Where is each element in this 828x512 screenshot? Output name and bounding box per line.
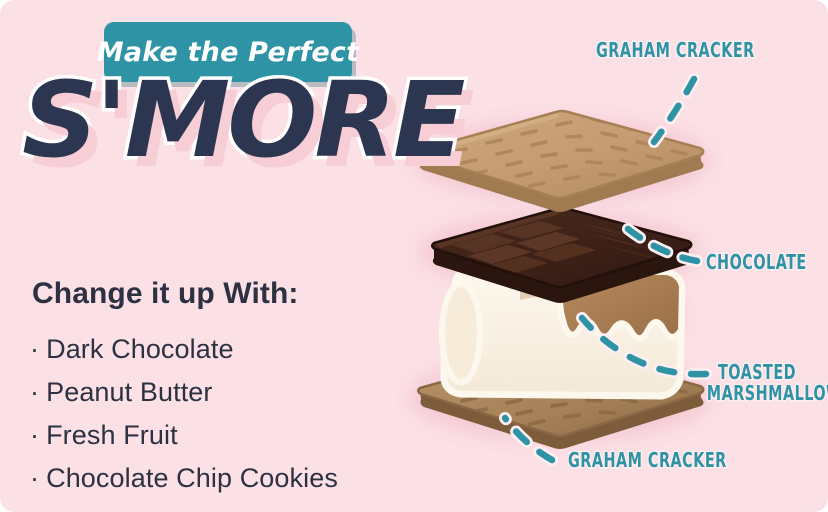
callout-label-top-graham-cracker: GRAHAM CRACKER [596, 40, 755, 61]
callout-label-toasted-marshmallow: TOASTED MARSHMALLOW [718, 362, 828, 404]
smore-infographic-poster: Make the Perfect S'MORE Change it up Wit… [0, 0, 828, 512]
callout-label-bottom-graham-cracker: GRAHAM CRACKER [568, 450, 727, 471]
leader-line-top-cracker [654, 79, 694, 142]
callout-label-chocolate: CHOCOLATE [706, 252, 807, 273]
callout-marshmallow-line2: MARSHMALLOW [707, 383, 828, 404]
page-title: S'MORE [22, 68, 462, 172]
